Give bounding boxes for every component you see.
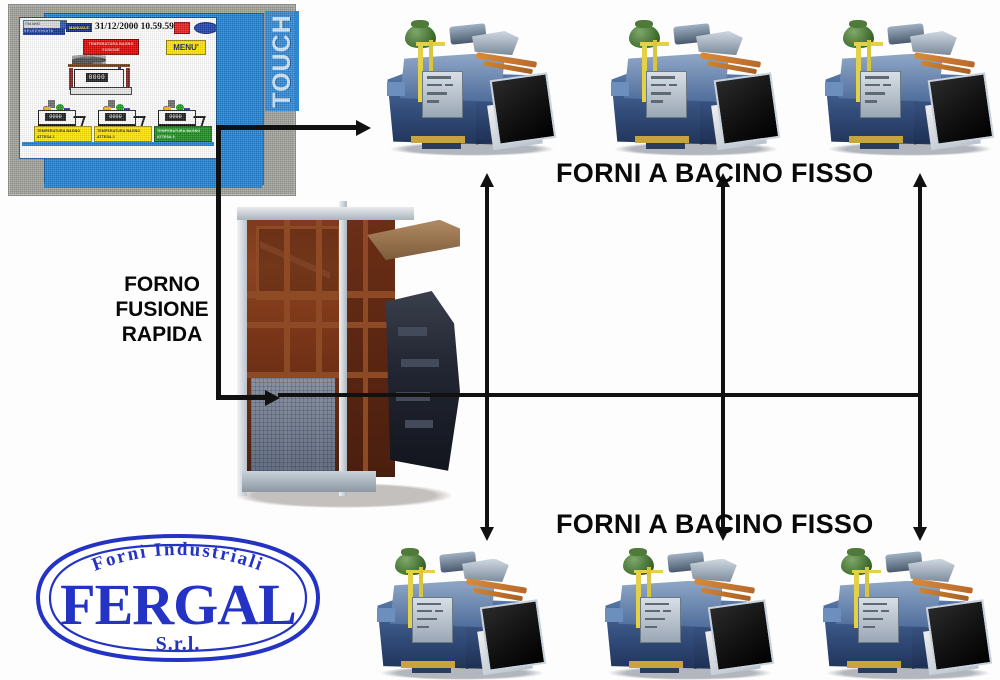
tower-machinery [386,291,460,471]
furnace-bottom-1[interactable] [372,542,552,680]
tilt-plate-dark [479,599,545,671]
control-panel [858,597,900,643]
branch-line-2 [721,186,725,528]
tilt-plate-dark [927,73,994,147]
ffr-line-1: FORNO [100,272,224,297]
distribution-bus-line [278,393,922,397]
branch-3-arrowhead-up [913,173,927,187]
blue-accent [611,82,629,96]
connector-to-tower-line [216,395,268,400]
control-panel [422,71,464,118]
label-forni-a-bacino-fisso-bottom: FORNI A BACINO FISSO [556,509,874,540]
touch-brand-strip: TOUCH [265,11,299,111]
furnace-top-1[interactable] [382,14,562,156]
tower-post-3 [363,214,369,481]
blue-accent [377,608,395,622]
control-panel [860,71,902,118]
tank-cap-icon [635,20,653,29]
hmi-touch-panel[interactable]: TOUCH ITALIANO SELEZIONATA MANUALE 31/12… [8,4,296,196]
blue-accent [823,608,841,622]
label-forno-fusione-rapida: FORNO FUSIONE RAPIDA [100,272,224,347]
branch-line-3 [918,186,922,528]
foot-rail [640,668,680,674]
hmi-label-2: TEMPERATURA BAGNO ATTESA 2 [94,126,152,142]
yellow-foot-rail [411,136,465,143]
alarm-indicator-icon[interactable] [174,22,190,34]
logo-name: FERGAL [60,572,296,637]
ffr-line-2: FUSIONE [100,297,224,322]
fergal-logo: Forni Industriali FERGAL S.r.l. [28,528,328,668]
branch-1-arrowhead-up [480,173,494,187]
tank-cap-icon [849,20,867,29]
tank-cap-icon [401,548,419,556]
blue-accent [605,608,623,622]
tower-door-mesh [251,378,335,471]
control-panel [646,71,688,118]
foot-rail [860,143,900,149]
furnace-bottom-2[interactable] [600,542,780,680]
blue-accent [825,82,843,96]
yellow-foot-rail [401,661,455,668]
hmi-temperature-value-3: 0000 [165,113,186,121]
hmi-temperature-value-1: 0000 [45,113,66,121]
yellow-foot-rail [635,136,689,143]
ffr-line-3: RAPIDA [100,322,224,347]
yellow-foot-rail [849,136,903,143]
mode-button[interactable]: MANUALE [66,23,92,32]
foot-rail [858,668,898,674]
hmi-topbar: ITALIANO SELEZIONATA MANUALE 31/12/2000 … [22,20,214,36]
tank-cap-icon [847,548,865,556]
tower-steel-column-left [237,210,246,495]
foot-rail [646,143,686,149]
hmi-label-3: TEMPERATURA BAGNO ATTESA 3 [154,126,212,142]
connector-hmi-down-line [216,125,221,400]
tower-base-plate [242,471,377,493]
tilt-plate-dark [713,73,780,147]
tower-top-beam [237,207,413,219]
tilt-plate-dark [925,599,991,671]
tilt-plate-dark [489,73,556,147]
brand-oval-logo [194,22,217,34]
diagram-canvas: TOUCH ITALIANO SELEZIONATA MANUALE 31/12… [0,0,1000,680]
connector-hmi-to-furnace-line [216,125,358,130]
tank-cap-icon [411,20,429,29]
branch-line-1 [485,186,489,528]
furnace-base [70,87,132,95]
foot-rail [412,668,452,674]
datetime-display: 31/12/2000 10.59.59 [95,21,174,33]
connector-to-tower-arrowhead [265,390,280,406]
branch-3-arrowhead-down [913,527,927,541]
forno-fusione-rapida-image[interactable] [228,198,460,508]
control-panel [640,597,682,643]
furnace-top-3[interactable] [820,14,1000,156]
branch-1-arrowhead-down [480,527,494,541]
hmi-temperature-value-2: 0000 [105,113,126,121]
hmi-melting-furnace-graphic[interactable]: 0000 [66,54,136,102]
furnace-bottom-3[interactable] [818,542,998,680]
hmi-bezel-foot [44,183,262,188]
label-forni-a-bacino-fisso-top: FORNI A BACINO FISSO [556,158,874,189]
foot-rail [422,143,462,149]
selected-recipe-field: SELEZIONATA [23,28,65,35]
yellow-foot-rail [629,661,683,668]
hmi-bottom-rail [22,142,214,146]
tower-steel-column-right [339,201,347,496]
menu-button[interactable]: MENU' [166,40,206,55]
logo-suffix: S.r.l. [156,633,201,655]
furnace-top-2[interactable] [606,14,786,156]
hmi-label-1: TEMPERATURA BAGNO ATTESA 1 [34,126,92,142]
tilt-plate-dark [707,599,773,671]
touch-label: TOUCH [265,11,299,111]
language-select-value: ITALIANO [25,22,40,26]
tank-cap-icon [629,548,647,556]
control-panel [412,597,454,643]
hmi-screen[interactable]: ITALIANO SELEZIONATA MANUALE 31/12/2000 … [19,17,217,159]
connector-hmi-to-furnace-arrowhead [356,120,371,136]
hmi-big-temperature-value: 0000 [86,73,108,82]
yellow-foot-rail [847,661,901,668]
alarm-banner: TEMPERATURA BAGNO FUSIONE [83,39,139,55]
blue-accent [387,82,405,96]
